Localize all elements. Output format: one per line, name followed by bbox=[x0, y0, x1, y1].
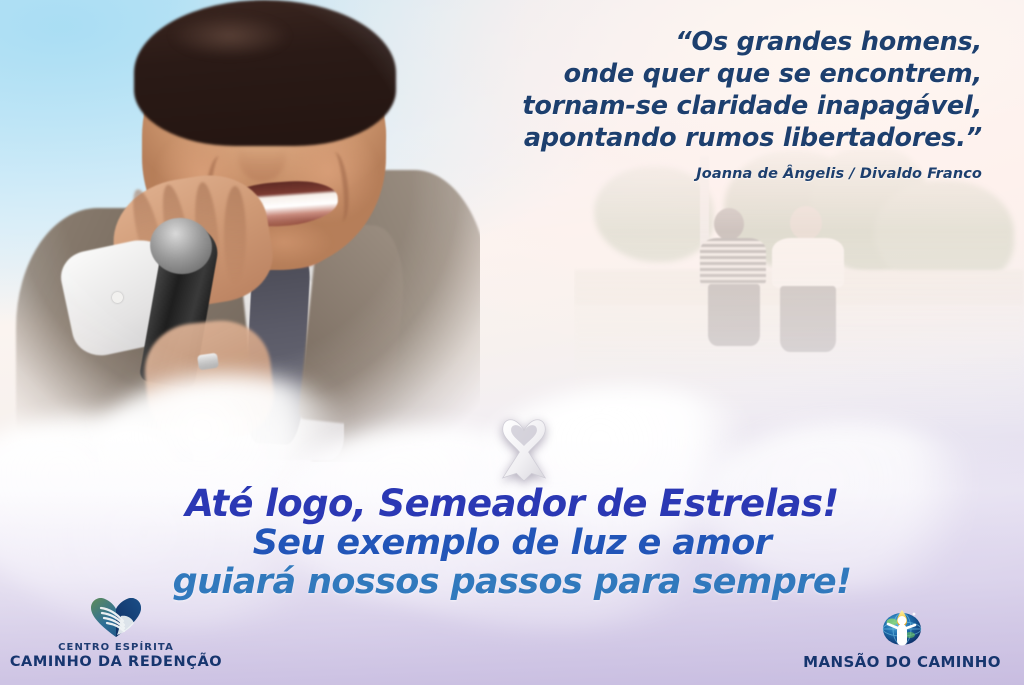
quote-line-4: apontando rumos libertadores.” bbox=[422, 122, 982, 154]
globe-figure-flame-icon bbox=[878, 602, 926, 650]
logo-left-subtitle: CENTRO ESPÍRITA bbox=[8, 642, 224, 654]
background-scene-photo bbox=[574, 150, 1024, 440]
logo-right-title: MANSÃO DO CAMINHO bbox=[790, 654, 1014, 671]
logo-centro-espirita: CENTRO ESPÍRITA CAMINHO DA REDENÇÃO bbox=[8, 596, 224, 671]
memorial-poster: “Os grandes homens, onde quer que se enc… bbox=[0, 0, 1024, 685]
quote-block: “Os grandes homens, onde quer que se enc… bbox=[422, 26, 982, 182]
headline-line-1: Até logo, Semeador de Estrelas! bbox=[0, 484, 1024, 524]
headline-line-2: Seu exemplo de luz e amor bbox=[0, 524, 1024, 563]
white-ribbon-icon bbox=[486, 408, 562, 484]
quote-line-3: tornam-se claridade inapagável, bbox=[422, 90, 982, 122]
quote-author: Joanna de Ângelis / Divaldo Franco bbox=[422, 166, 982, 182]
quote-line-1: “Os grandes homens, bbox=[422, 26, 982, 58]
clasped-hands-heart-icon bbox=[90, 596, 142, 638]
portrait-photo bbox=[10, 0, 480, 462]
logo-mansao-do-caminho: MANSÃO DO CAMINHO bbox=[790, 602, 1014, 671]
headline-block: Até logo, Semeador de Estrelas! Seu exem… bbox=[0, 484, 1024, 602]
logo-left-title: CAMINHO DA REDENÇÃO bbox=[8, 654, 224, 671]
quote-line-2: onde quer que se encontrem, bbox=[422, 58, 982, 90]
